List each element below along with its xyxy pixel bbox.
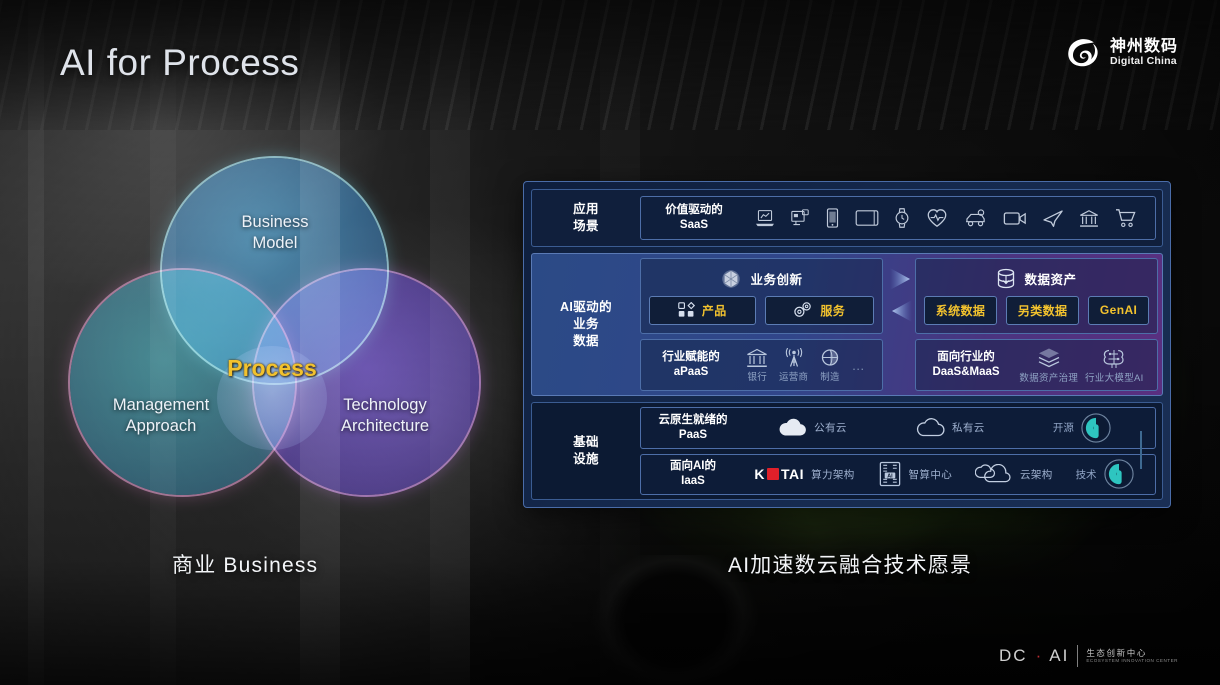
venn-center-label: Process [212,355,332,382]
smartphone-icon [826,208,839,228]
shopping-cart-icon [1115,208,1137,228]
compute-item-multicloud: 云架构 [975,464,1053,484]
footer-dc: DC [999,646,1028,666]
gem-cluster-icon [720,268,742,290]
data-caption-industry-llm: 行业大模型AI [1085,370,1144,384]
industry-item-bank: 银行 [746,348,768,383]
apaas-panel: 行业赋能的 aPaaS 银行 [640,339,883,391]
venn-label-technology-architecture: Technology Architecture [300,395,470,437]
data-stack-icon [1037,347,1061,369]
desktop-monitor-icon [790,209,810,227]
industry-item-manufacturing: 制造 [819,348,841,383]
tablet-icon [855,209,879,227]
chip-product-label: 产品 [702,302,727,319]
iaas-tag: 面向AI的 IaaS [651,459,735,489]
kutai-k: K [754,466,765,482]
saas-tag: 价值驱动的 SaaS [651,203,737,233]
heartbeat-icon [926,208,948,228]
ai-datacenter-icon: AI [878,461,902,487]
kutai-square [767,468,779,480]
footer-dot: · [1036,646,1042,666]
iaas-line: 面向AI的 IaaS K TAI 算力架构 [640,454,1156,496]
technology-badge: 技术 [1076,459,1134,489]
outline-cloud-icon [915,418,945,438]
bank-icon [1079,209,1099,228]
application-icon-strip [747,207,1145,229]
caption-tech-vision: AI加速数云融合技术愿景 [728,549,972,579]
footer-logo: DC · AI 生态创新中心 ECOSYSTEM INNOVATION CENT… [999,645,1178,667]
footer-en: ECOSYSTEM INNOVATION CENTER [1086,658,1178,663]
chip-product[interactable]: 产品 [649,296,756,325]
open-source-badge: 开源 [1053,413,1111,443]
bank-icon [746,348,768,368]
slide-canvas: AI for Process 神州数码 Digital China Busine… [0,0,1220,685]
data-item-governance: 数据资产治理 [1019,347,1078,384]
chip-service[interactable]: 服务 [765,296,875,325]
database-icon [996,268,1016,290]
kutai-tai: TAI [781,466,804,482]
business-innovation-panel: 业务创新 产品 [640,258,883,334]
arch-row-infrastructure: 基础 设施 云原生就绪的 PaaS 公有云 [531,402,1163,500]
apaas-tag: 行业赋能的 aPaaS [651,350,731,380]
arch-row-ai-driven-business-data: AI驱动的 业务 数据 业务创新 [531,253,1163,396]
gears-icon [793,301,813,319]
grid-blocks-icon [678,302,695,318]
footer-ai: AI [1049,646,1069,666]
industry-ellipsis: … [852,358,867,373]
industry-item-operator: 运营商 [779,348,808,383]
chip-genai-label: GenAI [1100,303,1137,317]
cloud-caption-private: 私有云 [952,420,985,435]
footer-cn: 生态创新中心 [1086,649,1178,659]
arch-row-label-infrastructure: 基础 设施 [532,403,640,499]
compute-caption-architecture: 算力架构 [811,467,855,482]
footer-divider [1077,645,1078,667]
caption-business: 商业 Business [172,549,318,579]
cloud-caption-public: 公有云 [814,420,847,435]
paas-tag: 云原生就绪的 PaaS [651,413,735,443]
chip-alternative-data-label: 另类数据 [1018,302,1068,319]
bidirectional-chevron-icon [884,264,918,326]
filled-cloud-icon [777,418,807,438]
kutai-logo-icon: K TAI [754,466,804,482]
architecture-panel: 应用 场景 价值驱动的 SaaS [523,181,1171,508]
brand-name-cn: 神州数码 [1110,39,1178,56]
paas-line: 云原生就绪的 PaaS 公有云 私有云 [640,407,1156,449]
compute-caption-cloud-architecture: 云架构 [1020,467,1053,482]
application-scenarios-box: 价值驱动的 SaaS [640,196,1156,240]
business-innovation-heading: 业务创新 [750,269,802,288]
technology-caption: 技术 [1076,467,1097,482]
compute-item-kutai: K TAI 算力架构 [754,466,854,482]
page-title: AI for Process [60,42,299,84]
open-source-caption: 开源 [1053,420,1074,435]
smartwatch-icon [894,207,910,229]
data-caption-governance: 数据资产治理 [1019,370,1078,384]
swirl-logo-icon [1065,36,1101,70]
airplane-icon [1043,209,1064,228]
chip-system-data[interactable]: 系统数据 [924,296,997,325]
laptop-chart-icon [755,209,775,227]
brand-logo: 神州数码 Digital China [1065,36,1178,70]
industry-caption-manufacturing: 制造 [820,369,840,383]
venn-label-business-model: Business Model [202,212,348,254]
car-icon [964,209,988,228]
chip-alternative-data[interactable]: 另类数据 [1006,296,1079,325]
brand-name-en: Digital China [1110,56,1178,67]
multi-cloud-icon [975,464,1013,484]
venn-diagram: Business Model Management Approach Techn… [62,150,462,510]
svg-text:AI: AI [887,474,893,480]
arch-row-application-scenarios: 应用 场景 价值驱动的 SaaS [531,189,1163,247]
daas-maas-tag: 面向行业的 DaaS&MaaS [926,350,1006,380]
compute-caption-datacenter: 智算中心 [909,467,953,482]
cloud-item-public: 公有云 [777,418,847,438]
industry-caption-operator: 运营商 [779,369,808,383]
arch-row-label-application-scenarios: 应用 场景 [532,190,640,246]
arch-row-label-ai-driven: AI驱动的 业务 数据 [532,254,640,395]
industry-caption-bank: 银行 [748,369,768,383]
chip-system-data-label: 系统数据 [936,302,986,319]
badge-connector-line [1140,431,1142,469]
chip-genai[interactable]: GenAI [1088,296,1149,325]
data-item-industry-llm: 行业大模型AI [1085,347,1144,384]
compute-item-datacenter: AI 智算中心 [878,461,953,487]
chip-service-label: 服务 [820,302,845,319]
openatom-ring-icon [1104,459,1134,489]
daas-maas-panel: 面向行业的 DaaS&MaaS 数据资产治理 [915,339,1158,391]
data-assets-heading: 数据资产 [1024,269,1076,288]
gear-globe-icon [819,348,841,368]
brain-network-icon [1101,347,1127,369]
cloud-item-private: 私有云 [915,418,985,438]
video-camera-icon [1003,210,1027,227]
antenna-tower-icon [783,348,805,368]
openatom-ring-icon [1081,413,1111,443]
data-assets-panel: 数据资产 系统数据 另类数据 GenAI [915,258,1158,334]
venn-label-management-approach: Management Approach [76,395,246,437]
